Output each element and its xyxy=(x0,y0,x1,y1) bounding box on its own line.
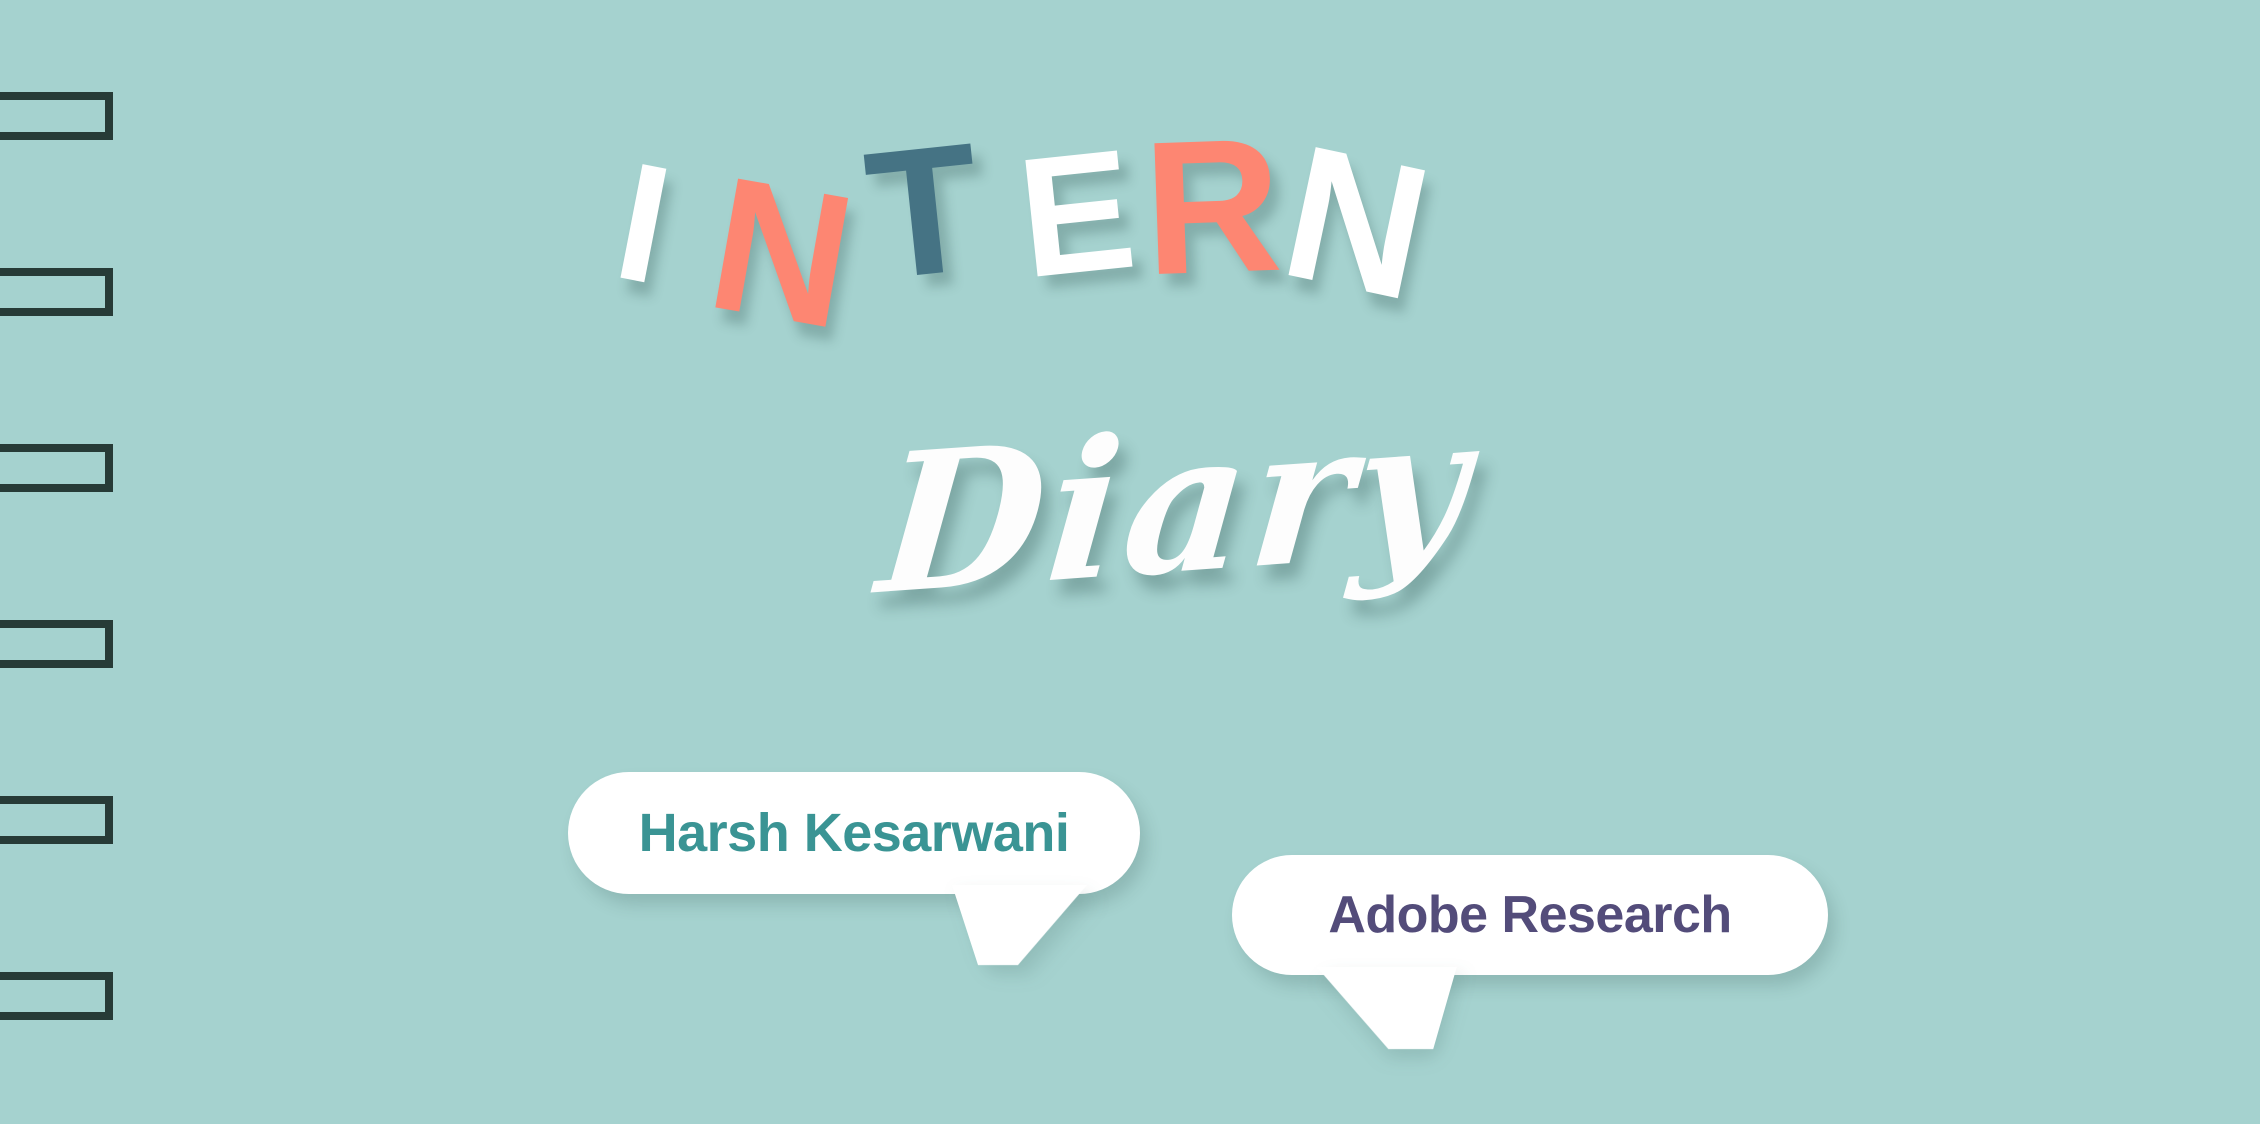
binding-ring xyxy=(0,972,113,1020)
wordmark-letter-1: I xyxy=(606,145,681,302)
speech-bubble-presenter-name[interactable]: Harsh Kesarwani xyxy=(568,772,1140,894)
slide-canvas: INTERN Diary Harsh Kesarwani Adobe Resea… xyxy=(0,0,2260,1124)
binding-ring xyxy=(0,796,113,844)
binding-ring xyxy=(0,620,113,668)
presenter-name-label: Harsh Kesarwani xyxy=(639,802,1070,864)
speech-bubble-tail-organization xyxy=(1293,967,1457,1049)
speech-bubble-tail-presenter-name xyxy=(952,885,1113,965)
diary-script-title: Diary xyxy=(872,389,1478,622)
wordmark-letter-4: E xyxy=(1012,132,1141,296)
binding-ring xyxy=(0,92,113,140)
wordmark-letter-5: R xyxy=(1141,120,1284,296)
speech-bubble-organization[interactable]: Adobe Research xyxy=(1232,855,1828,975)
binding-ring xyxy=(0,444,113,492)
wordmark-letter-6: N xyxy=(1272,126,1442,322)
binding-ring-hole xyxy=(0,628,105,660)
organization-label: Adobe Research xyxy=(1328,885,1731,945)
binding-ring-hole xyxy=(0,452,105,484)
binding-ring-hole xyxy=(0,276,105,308)
binding-ring-hole xyxy=(0,980,105,1012)
binding-ring xyxy=(0,268,113,316)
wordmark-letter-3: T xyxy=(860,125,988,300)
binding-ring-hole xyxy=(0,100,105,132)
wordmark-letter-2: N xyxy=(699,157,864,349)
binding-ring-hole xyxy=(0,804,105,836)
notebook-spiral-binding xyxy=(0,0,170,1124)
intern-wordmark: INTERN xyxy=(620,130,1680,390)
